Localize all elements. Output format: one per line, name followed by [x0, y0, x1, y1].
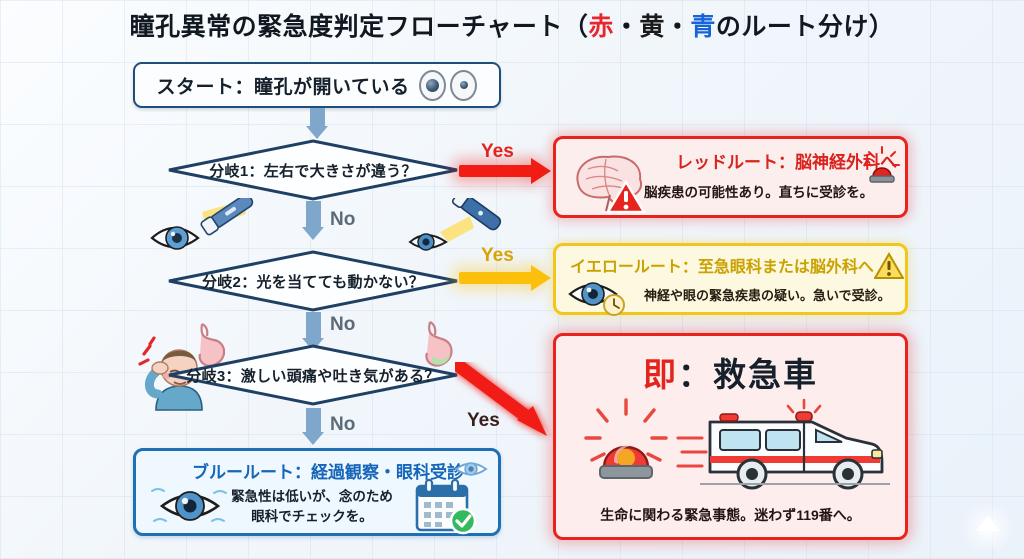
title-red-char: 赤	[588, 13, 614, 41]
result-red-route[interactable]: レッドルート：脳神経外科へ 脳疾患の可能性あり。直ちに受診を。	[553, 136, 908, 218]
result-blue-route[interactable]: ブルールート：経過観察・眼科受診 緊急性は低いが、念のため 眼科でチェックを。	[133, 448, 501, 536]
title-part1: 瞳孔異常の緊急度判定フローチャート（	[130, 13, 589, 41]
arrow-branch3-yes	[455, 362, 565, 446]
yellow-route-subtext: 神経や眼の緊急疾患の疑い。急いで受診。	[644, 285, 891, 304]
watermark	[960, 503, 1016, 549]
red-route-subtext: 脳疾患の可能性あり。直ちに受診を。	[644, 181, 873, 201]
label-branch1-yes: Yes	[481, 141, 514, 163]
arrow-branch1-no	[302, 201, 324, 240]
title-sep1: ・	[614, 13, 640, 41]
arrow-branch3-no	[302, 408, 324, 445]
ambulance-heading-sep: ：	[678, 356, 713, 393]
ambulance-subtext: 生命に関わる緊急事態。迷わず119番へ。	[556, 505, 905, 525]
result-ambulance[interactable]: 即：救急車	[553, 333, 908, 540]
ambulance-heading: 即：救急車	[556, 348, 905, 396]
ambulance-heading-main: 救急車	[713, 356, 818, 393]
label-branch3-yes: Yes	[467, 410, 500, 432]
eye-icon	[150, 481, 230, 531]
ambulance-icon	[676, 398, 896, 494]
siren-icon	[862, 145, 902, 185]
decision-branch2[interactable]: 分岐2：光を当てても動かない？	[167, 250, 459, 312]
start-label: スタート：瞳孔が開いている	[157, 72, 410, 99]
label-branch1-no: No	[330, 209, 355, 231]
eye-clock-icon	[566, 274, 638, 316]
decision-branch1[interactable]: 分岐1：左右で大きさが違う？	[167, 139, 459, 201]
label-branch2-no: No	[330, 314, 355, 336]
decision-branch1-label: 分岐1：左右で大きさが違う？	[167, 139, 459, 201]
start-node[interactable]: スタート：瞳孔が開いている	[133, 62, 501, 108]
blue-route-subtext: 緊急性は低いが、念のため 眼科でチェックを。	[212, 487, 412, 526]
title-yellow-char: 黄	[639, 13, 665, 41]
blue-route-subtext-line1: 緊急性は低いが、念のため	[231, 489, 393, 504]
ambulance-heading-prefix: 即	[643, 356, 678, 393]
title-part2: のルート分け）	[716, 13, 895, 41]
calendar-check-icon	[408, 477, 482, 535]
warning-triangle-icon	[606, 179, 646, 215]
warning-triangle-icon	[874, 252, 904, 280]
eye-pair-icon	[419, 70, 477, 101]
decision-branch2-label: 分岐2：光を当てても動かない？	[167, 250, 459, 312]
arrow-branch2-yes	[459, 265, 552, 291]
eye-dilated-icon	[419, 70, 446, 101]
flowchart-canvas: 瞳孔異常の緊急度判定フローチャート（赤・黄・青のルート分け） スタート：瞳孔が開…	[0, 0, 1024, 559]
title-sep2: ・	[665, 13, 691, 41]
title-blue-char: 青	[690, 13, 716, 41]
eye-normal-icon	[450, 70, 477, 101]
siren-icon	[580, 396, 672, 488]
arrow-start-to-branch1	[306, 108, 328, 139]
blue-route-subtext-line2: 眼科でチェックを。	[251, 509, 373, 524]
page-title: 瞳孔異常の緊急度判定フローチャート（赤・黄・青のルート分け）	[0, 7, 1024, 43]
label-branch3-no: No	[330, 414, 355, 436]
label-branch2-yes: Yes	[481, 245, 514, 267]
result-yellow-route[interactable]: イエロールート：至急眼科または脳外科へ 神経や眼の緊急疾患の疑い。急いで受診。	[553, 243, 908, 315]
